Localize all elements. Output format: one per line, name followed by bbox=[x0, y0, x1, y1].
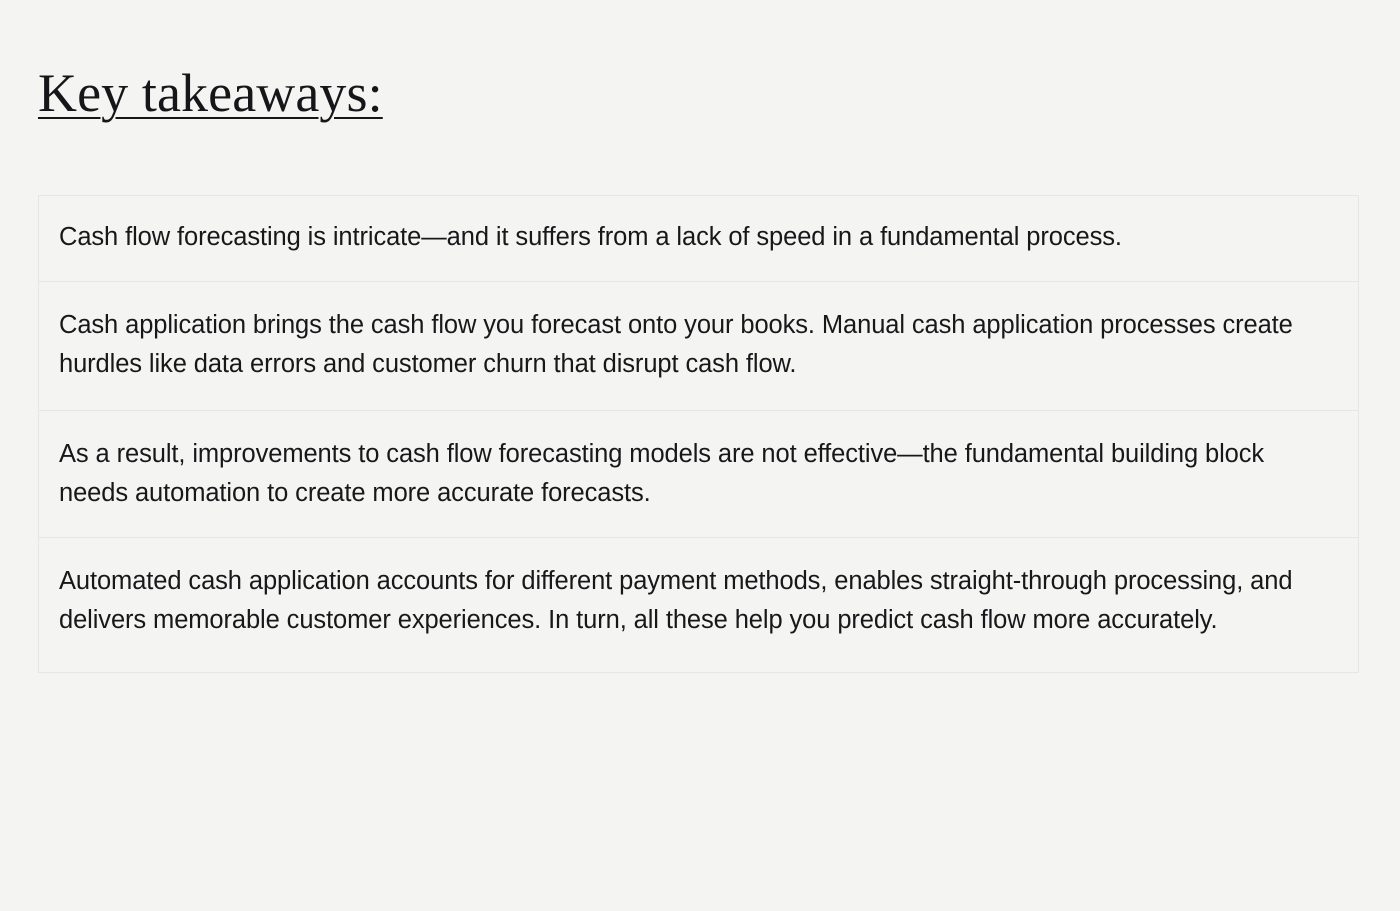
table-row: As a result, improvements to cash flow f… bbox=[39, 411, 1358, 538]
table-row: Cash application brings the cash flow yo… bbox=[39, 282, 1358, 411]
page-root: Key takeaways: Cash flow forecasting is … bbox=[0, 0, 1400, 911]
takeaway-text: Cash application brings the cash flow yo… bbox=[39, 282, 1358, 410]
takeaway-text: Automated cash application accounts for … bbox=[39, 538, 1358, 672]
takeaway-text: As a result, improvements to cash flow f… bbox=[39, 411, 1358, 537]
takeaway-text: Cash flow forecasting is intricate—and i… bbox=[39, 196, 1358, 281]
table-row: Cash flow forecasting is intricate—and i… bbox=[39, 196, 1358, 282]
table-row: Automated cash application accounts for … bbox=[39, 538, 1358, 672]
page-title: Key takeaways: bbox=[38, 62, 383, 124]
key-takeaways-table: Cash flow forecasting is intricate—and i… bbox=[38, 195, 1359, 673]
